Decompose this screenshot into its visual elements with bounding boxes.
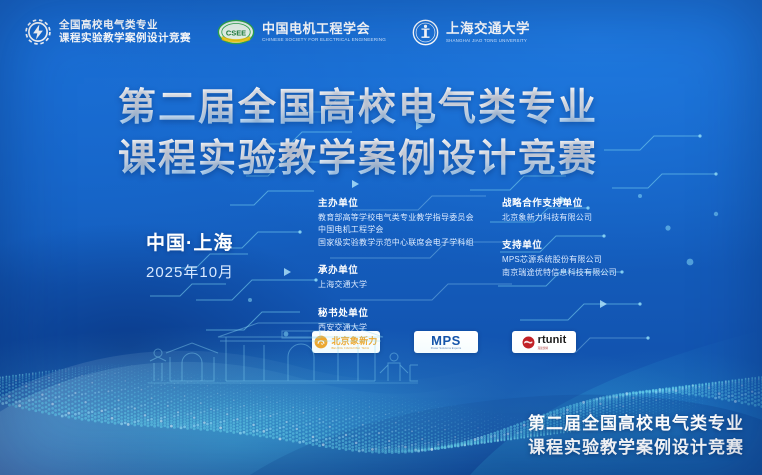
sjtu-logo-cn: 上海交通大学 (446, 21, 530, 37)
org-item: 北京象新力科技有限公司 (502, 212, 617, 224)
sponsor-name-en: 瑞途优特 (538, 346, 548, 350)
header-logo-bar: 全国高校电气类专业 课程实验教学案例设计竞赛 CSEE 中国电机工程学会 CHI… (24, 18, 530, 46)
org-group-secretariat: 秘书处单位 西安交通大学 (318, 305, 474, 334)
globe-icon (522, 336, 535, 349)
svg-text:CSEE: CSEE (226, 28, 246, 37)
elephant-icon (314, 335, 328, 349)
org-item: MPS芯源系统股份有限公司 (502, 254, 617, 266)
sponsor-name-cn: rtunit (538, 335, 567, 346)
org-heading: 战略合作支持单位 (502, 195, 617, 209)
event-date: 2025年10月 (146, 261, 234, 282)
sponsor-name-en: Power Solutions Experts (431, 347, 462, 350)
organizer-column-left: 主办单位 教育部高等学校电气类专业教学指导委员会 中国电机工程学会 国家级实验教… (318, 195, 474, 347)
sjtu-logo-en: SHANGHAI JIAO TONG UNIVERSITY (446, 38, 530, 43)
watermark-line-2: 课程实验教学案例设计竞赛 (528, 436, 744, 461)
org-group-hosts: 主办单位 教育部高等学校电气类专业教学指导委员会 中国电机工程学会 国家级实验教… (318, 195, 474, 249)
sponsor-name-en: BEIJING XIANGXINLI TECH (331, 347, 369, 350)
bottom-watermark-title: 第二届全国高校电气类专业 课程实验教学案例设计竞赛 (528, 412, 744, 461)
org-heading: 主办单位 (318, 195, 474, 209)
org-group-undertaker: 承办单位 上海交通大学 (318, 262, 474, 291)
poster-title: 第二届全国高校电气类专业 课程实验教学案例设计竞赛 (118, 83, 678, 184)
org-item: 上海交通大学 (318, 279, 474, 291)
org-item: 南京瑞途优特信息科技有限公司 (502, 267, 617, 279)
competition-logo: 全国高校电气类专业 课程实验教学案例设计竞赛 (24, 18, 191, 46)
poster-canvas: 全国高校电气类专业 课程实验教学案例设计竞赛 CSEE 中国电机工程学会 CHI… (0, 0, 762, 475)
csee-logo: CSEE 中国电机工程学会 CHINESE SOCIETY FOR ELECTR… (217, 19, 386, 45)
org-item: 中国电机工程学会 (318, 224, 474, 236)
org-group-strategic-partner: 战略合作支持单位 北京象新力科技有限公司 (502, 195, 617, 224)
csee-emblem-icon: CSEE (217, 19, 255, 45)
org-item: 教育部高等学校电气类专业教学指导委员会 (318, 212, 474, 224)
sjtu-emblem-icon (412, 19, 439, 46)
organizer-column-right: 战略合作支持单位 北京象新力科技有限公司 支持单位 MPS芯源系统股份有限公司 … (502, 195, 617, 292)
sponsor-logo-row: 北京象新力 BEIJING XIANGXINLI TECH MPS Power … (312, 331, 576, 353)
watermark-line-1: 第二届全国高校电气类专业 (528, 412, 744, 437)
csee-logo-en: CHINESE SOCIETY FOR ELECTRICAL ENGINEERI… (262, 37, 386, 42)
sponsor-name-cn: MPS (431, 334, 461, 347)
title-line-2: 课程实验教学案例设计竞赛 (118, 134, 678, 185)
org-heading: 秘书处单位 (318, 305, 474, 319)
csee-logo-cn: 中国电机工程学会 (262, 21, 386, 37)
org-heading: 支持单位 (502, 237, 617, 251)
org-item: 国家级实验教学示范中心联席会电子学科组 (318, 237, 474, 249)
sponsor-logo-xiangxinli: 北京象新力 BEIJING XIANGXINLI TECH (312, 331, 380, 353)
sponsor-logo-rtunit: rtunit 瑞途优特 (512, 331, 576, 353)
sponsor-name-cn: 北京象新力 (331, 334, 377, 347)
title-line-1: 第二届全国高校电气类专业 (118, 83, 678, 134)
sjtu-logo: 上海交通大学 SHANGHAI JIAO TONG UNIVERSITY (412, 19, 530, 46)
org-heading: 承办单位 (318, 262, 474, 276)
sponsor-logo-mps: MPS Power Solutions Experts (414, 331, 478, 353)
event-place-block: 中国·上海 2025年10月 (146, 228, 234, 282)
competition-logo-line2: 课程实验教学案例设计竞赛 (59, 32, 191, 45)
event-city: 中国·上海 (146, 228, 234, 255)
org-group-supporters: 支持单位 MPS芯源系统股份有限公司 南京瑞途优特信息科技有限公司 (502, 237, 617, 279)
gear-bolt-icon (24, 18, 52, 46)
competition-logo-line1: 全国高校电气类专业 (59, 19, 191, 32)
